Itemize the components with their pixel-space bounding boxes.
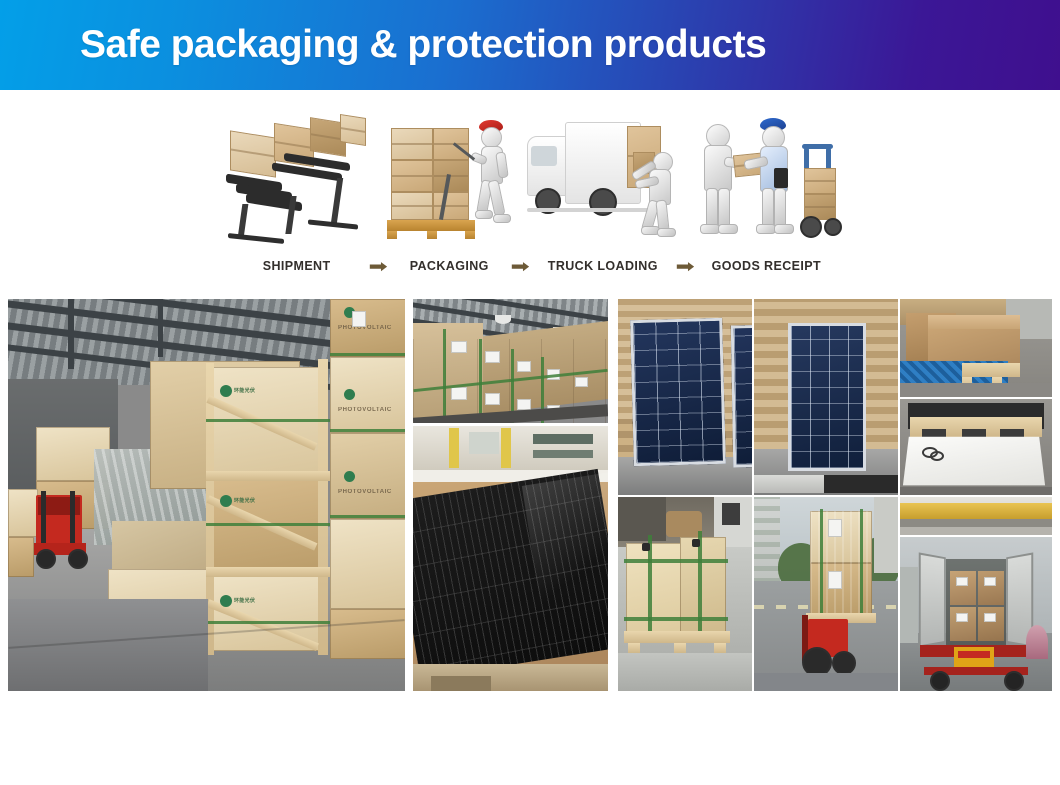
photo-mono-panel-second-view xyxy=(754,299,898,495)
flow-label-shipment: SHIPMENT xyxy=(222,259,371,273)
flow-label-truck-loading: TRUCK LOADING xyxy=(527,259,678,273)
stage-art-truck-loading xyxy=(527,112,679,250)
photo-carton-on-blue-pallet xyxy=(900,299,1052,397)
photo-black-solar-panels-in-carton xyxy=(413,426,608,691)
loader-figure xyxy=(639,152,679,242)
flow-gap-2 xyxy=(516,112,524,250)
pallet-jack-worker-icon xyxy=(385,112,513,250)
flow-label-packaging: PACKAGING xyxy=(386,259,513,273)
photo-gallery: 环能光伏 环能光伏 环能光伏 PHOTOVOLTAIC PHOTOVOLTAIC… xyxy=(8,299,1052,691)
truck-loading-icon xyxy=(527,112,679,250)
conveyor-boxes-icon xyxy=(222,112,372,250)
photo-forklift-carrying-pallets xyxy=(754,497,898,691)
photo-warehouse-crate-stacks: 环能光伏 环能光伏 环能光伏 PHOTOVOLTAIC PHOTOVOLTAIC… xyxy=(8,299,405,691)
slide-header: Safe packaging & protection products xyxy=(0,0,1060,90)
page-title: Safe packaging & protection products xyxy=(80,23,766,67)
stage-art-packaging xyxy=(385,112,513,250)
crate-brand-logo-2: 环能光伏 xyxy=(234,497,255,504)
logistics-flow-infographic: SHIPMENT ➡ PACKAGING ➡ TRUCK LOADING ➡ G… xyxy=(222,112,840,287)
photovoltaic-text-3: PHOTOVOLTAIC xyxy=(338,489,392,495)
stage-art-shipment xyxy=(222,112,372,250)
photo-carton-rows-warehouse xyxy=(413,299,608,423)
crate-brand-logo-1: 环能光伏 xyxy=(234,387,255,394)
photo-warehouse-roofline xyxy=(900,497,1052,535)
photovoltaic-text-2: PHOTOVOLTAIC xyxy=(338,407,392,413)
stage-art-goods-receipt xyxy=(692,112,840,250)
flow-gap-3 xyxy=(681,112,689,250)
worker-figure xyxy=(469,120,513,242)
flow-label-goods-receipt: GOODS RECEIPT xyxy=(693,259,840,273)
flow-arrow-2: ➡ xyxy=(510,258,529,275)
handover-handtruck-icon xyxy=(692,112,840,250)
flow-illustrations xyxy=(222,112,840,250)
flow-arrow-3: ➡ xyxy=(676,258,695,275)
receiver-figure xyxy=(694,124,740,246)
photo-mono-panel-front-view xyxy=(618,299,752,495)
photo-strapped-wooden-crate xyxy=(618,497,752,691)
slide-root: Safe packaging & protection products xyxy=(0,0,1060,785)
flow-arrow-1: ➡ xyxy=(369,258,388,275)
photo-container-truck-loaded xyxy=(900,537,1052,691)
flow-gap-1 xyxy=(375,112,383,250)
flow-labels-row: SHIPMENT ➡ PACKAGING ➡ TRUCK LOADING ➡ G… xyxy=(222,254,840,278)
crate-brand-logo-3: 环能光伏 xyxy=(234,597,255,604)
photo-white-panel-on-pallet xyxy=(900,399,1052,495)
courier-figure xyxy=(752,118,800,246)
